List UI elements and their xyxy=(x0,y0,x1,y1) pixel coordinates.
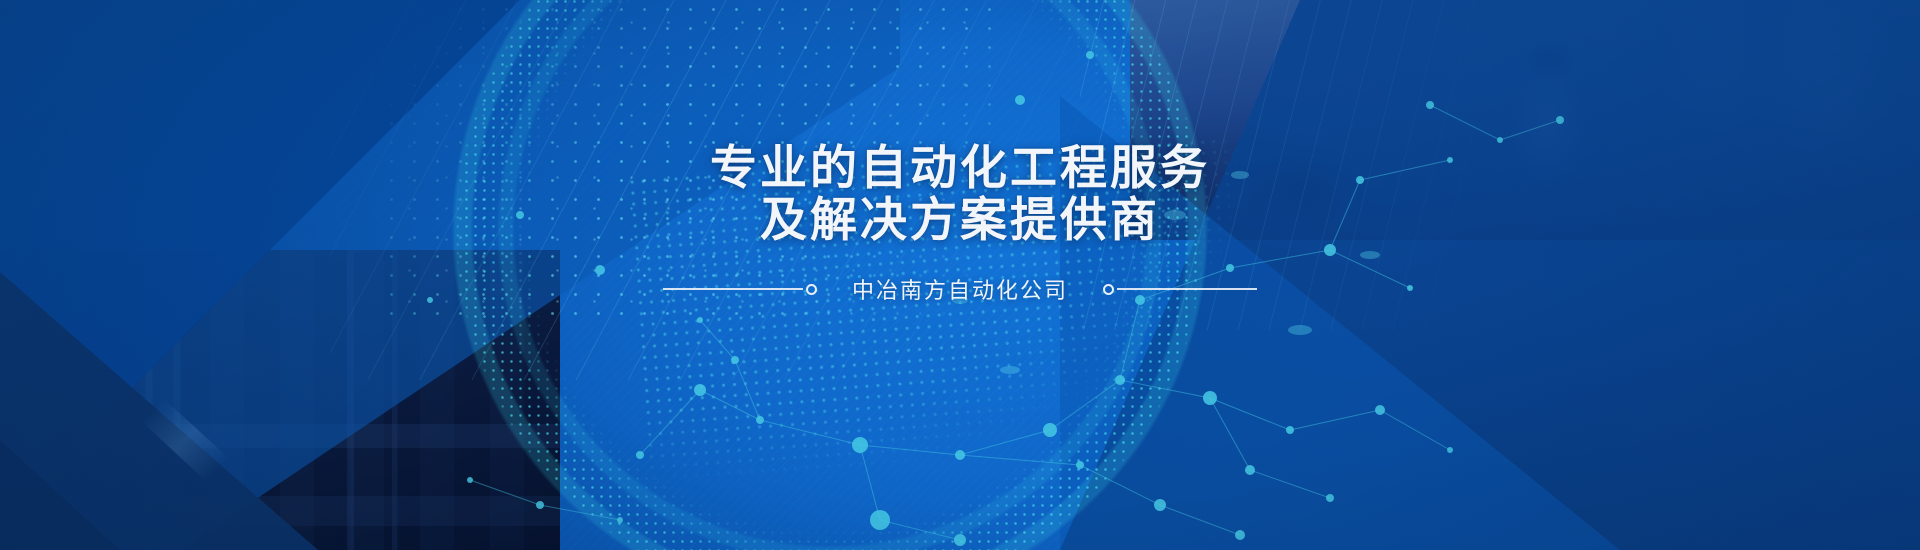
hero-banner: 专业的自动化工程服务 及解决方案提供商 中冶南方自动化公司 xyxy=(0,0,1920,550)
headline-line-2: 及解决方案提供商 xyxy=(710,194,1210,246)
subtitle-row: 中冶南方自动化公司 xyxy=(663,273,1257,305)
left-decorative-line xyxy=(663,288,803,290)
banner-content: 专业的自动化工程服务 及解决方案提供商 中冶南方自动化公司 xyxy=(0,0,1920,550)
right-decorative-dot xyxy=(1103,284,1114,295)
subtitle-text: 中冶南方自动化公司 xyxy=(820,273,1100,305)
headline-line-1: 专业的自动化工程服务 xyxy=(710,142,1210,194)
right-decorative-line xyxy=(1117,288,1257,290)
left-decorative-dot xyxy=(806,284,817,295)
page-title: 专业的自动化工程服务 及解决方案提供商 xyxy=(710,142,1210,246)
